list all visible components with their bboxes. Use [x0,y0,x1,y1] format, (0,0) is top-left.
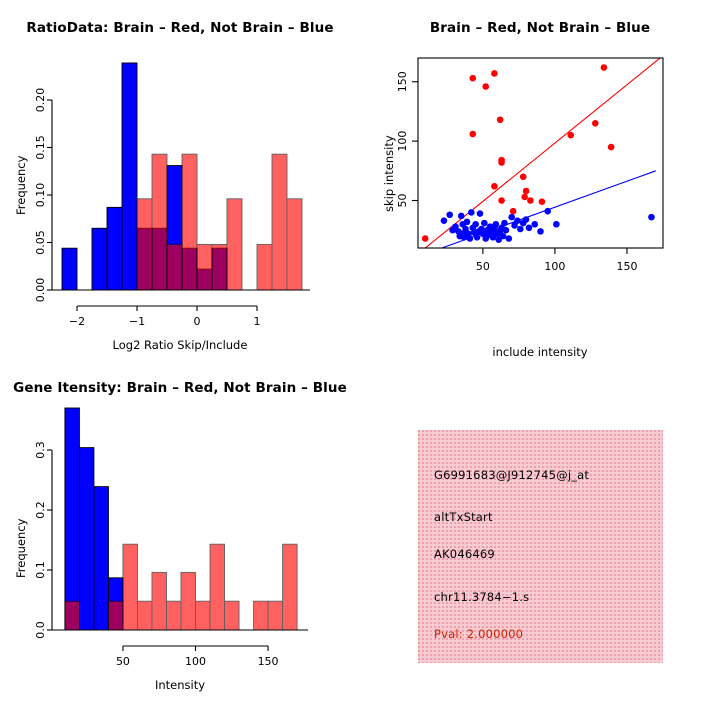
histogram-bar [94,487,109,630]
info-accession: AK046469 [434,547,495,561]
data-point [521,194,528,201]
histogram-bar [268,601,283,630]
data-point [508,214,515,221]
x-tick-label: 150 [258,655,279,668]
histogram-bar [182,154,197,290]
gene-intensity-panel: Gene Itensity: Brain – Red, Not Brain – … [0,360,360,720]
gene-histogram-plot: 0.00.10.20.350100150 [0,360,360,720]
data-point [527,197,534,204]
histogram-bar [108,601,123,630]
scatter-x-axis: 50100150 [476,248,638,273]
info-locus: chr11.3784−1.s [434,590,529,604]
data-point [493,221,500,228]
scatter-inner [422,56,663,251]
data-point [422,235,429,242]
gene-x-axis: 50100150 [116,646,279,668]
histogram-bar [167,244,182,290]
info-pval: Pval: 2.000000 [434,627,523,641]
data-point [474,234,481,241]
x-tick-label: 1 [254,315,261,328]
histogram-bar [181,572,196,630]
data-point [477,210,484,217]
data-point [441,217,448,224]
data-point [510,208,517,215]
y-tick-label: 0.05 [34,230,47,255]
data-point [544,208,551,215]
ratio-hist-bars [62,63,302,290]
data-point [458,213,465,220]
x-tick-label: 0 [194,315,201,328]
gene-hist-bars [65,408,297,630]
data-point [491,70,498,77]
gene-info-panel: G6991683@J912745@j_at altTxStart AK04646… [418,430,663,663]
histogram-bar [254,601,269,630]
histogram-bar [107,207,122,290]
y-tick-label: 0.20 [34,88,47,113]
data-point [497,116,504,123]
data-point [467,235,474,242]
gene-y-axis: 0.00.10.20.3 [34,441,52,639]
info-event-type: altTxStart [434,510,493,524]
x-tick-label: 150 [616,260,637,273]
data-point [464,219,471,226]
x-tick-label: 50 [476,260,490,273]
data-point [539,198,546,205]
histogram-bar [283,544,298,630]
histogram-bar [65,408,80,630]
histogram-bar [257,244,272,290]
intensity-scatter-panel: Brain – Red, Not Brain – Blue skip inten… [360,0,720,360]
data-point [481,220,488,227]
histogram-bar [212,244,227,290]
y-tick-label: 0.0 [34,621,47,639]
data-point [482,83,489,90]
data-point [523,188,530,195]
scatter-y-axis: 50100150 [396,71,418,207]
histogram-bar [287,199,302,290]
data-point [601,64,608,71]
histogram-bar [65,601,80,630]
histogram-bar [152,572,167,630]
y-tick-label: 0.3 [34,441,47,459]
data-point [500,233,507,240]
data-point [608,144,615,151]
y-tick-label: 100 [396,131,409,152]
histogram-bar [196,601,211,630]
histogram-bar [197,244,212,290]
data-point [503,227,510,234]
fit-line-brain-fit [422,56,663,251]
data-point [592,120,599,127]
data-point [567,132,574,139]
data-point [537,228,544,235]
histogram-bar [166,601,181,630]
y-tick-label: 0.10 [34,183,47,208]
series-not-brain---blue [65,408,123,630]
data-point [498,197,505,204]
data-point [505,235,512,242]
scatter-plot: 5010015050100150 [360,0,720,360]
x-tick-label: −1 [129,315,145,328]
data-point [446,211,453,218]
data-point [468,209,475,216]
y-tick-label: 0.2 [34,501,47,519]
data-point [501,220,508,227]
y-tick-label: 0.00 [34,278,47,303]
data-point [648,214,655,221]
histogram-bar [92,228,107,290]
data-point [531,221,538,228]
y-tick-label: 150 [396,71,409,92]
histogram-bar [62,248,77,290]
histogram-bar [272,154,287,290]
histogram-bar [137,601,152,630]
histogram-bar [123,544,138,630]
histogram-bar [79,448,94,630]
y-tick-label: 50 [396,194,409,208]
histogram-bar [225,601,240,630]
points-not-brain---blue [441,208,655,243]
histogram-bar [137,199,152,290]
x-tick-label: 100 [544,260,565,273]
x-tick-label: −2 [69,315,85,328]
data-point [514,217,521,224]
ratio-x-axis: −2−101 [69,306,261,328]
ratio-histogram-plot: 0.000.050.100.150.20−2−101 [0,0,360,360]
x-tick-label: 100 [185,655,206,668]
histogram-bar [210,544,225,630]
data-point [491,183,498,190]
data-point [526,225,533,232]
histogram-bar [122,63,137,290]
data-point [517,226,524,233]
y-tick-label: 0.1 [34,561,47,579]
info-probe-id: G6991683@J912745@j_at [434,468,589,482]
data-point [553,221,560,228]
y-tick-label: 0.15 [34,135,47,160]
data-point [472,221,479,228]
histogram-bar [152,154,167,290]
ratio-histogram-panel: RatioData: Brain – Red, Not Brain – Blue… [0,0,360,360]
data-point [523,216,530,223]
data-point [469,75,476,82]
data-point [498,159,505,166]
plot-frame [418,58,663,248]
data-point [469,131,476,138]
x-tick-label: 50 [116,655,130,668]
series-brain---red [137,154,302,290]
data-point [520,173,527,180]
histogram-bar [227,199,242,290]
ratio-y-axis: 0.000.050.100.150.20 [34,88,52,303]
